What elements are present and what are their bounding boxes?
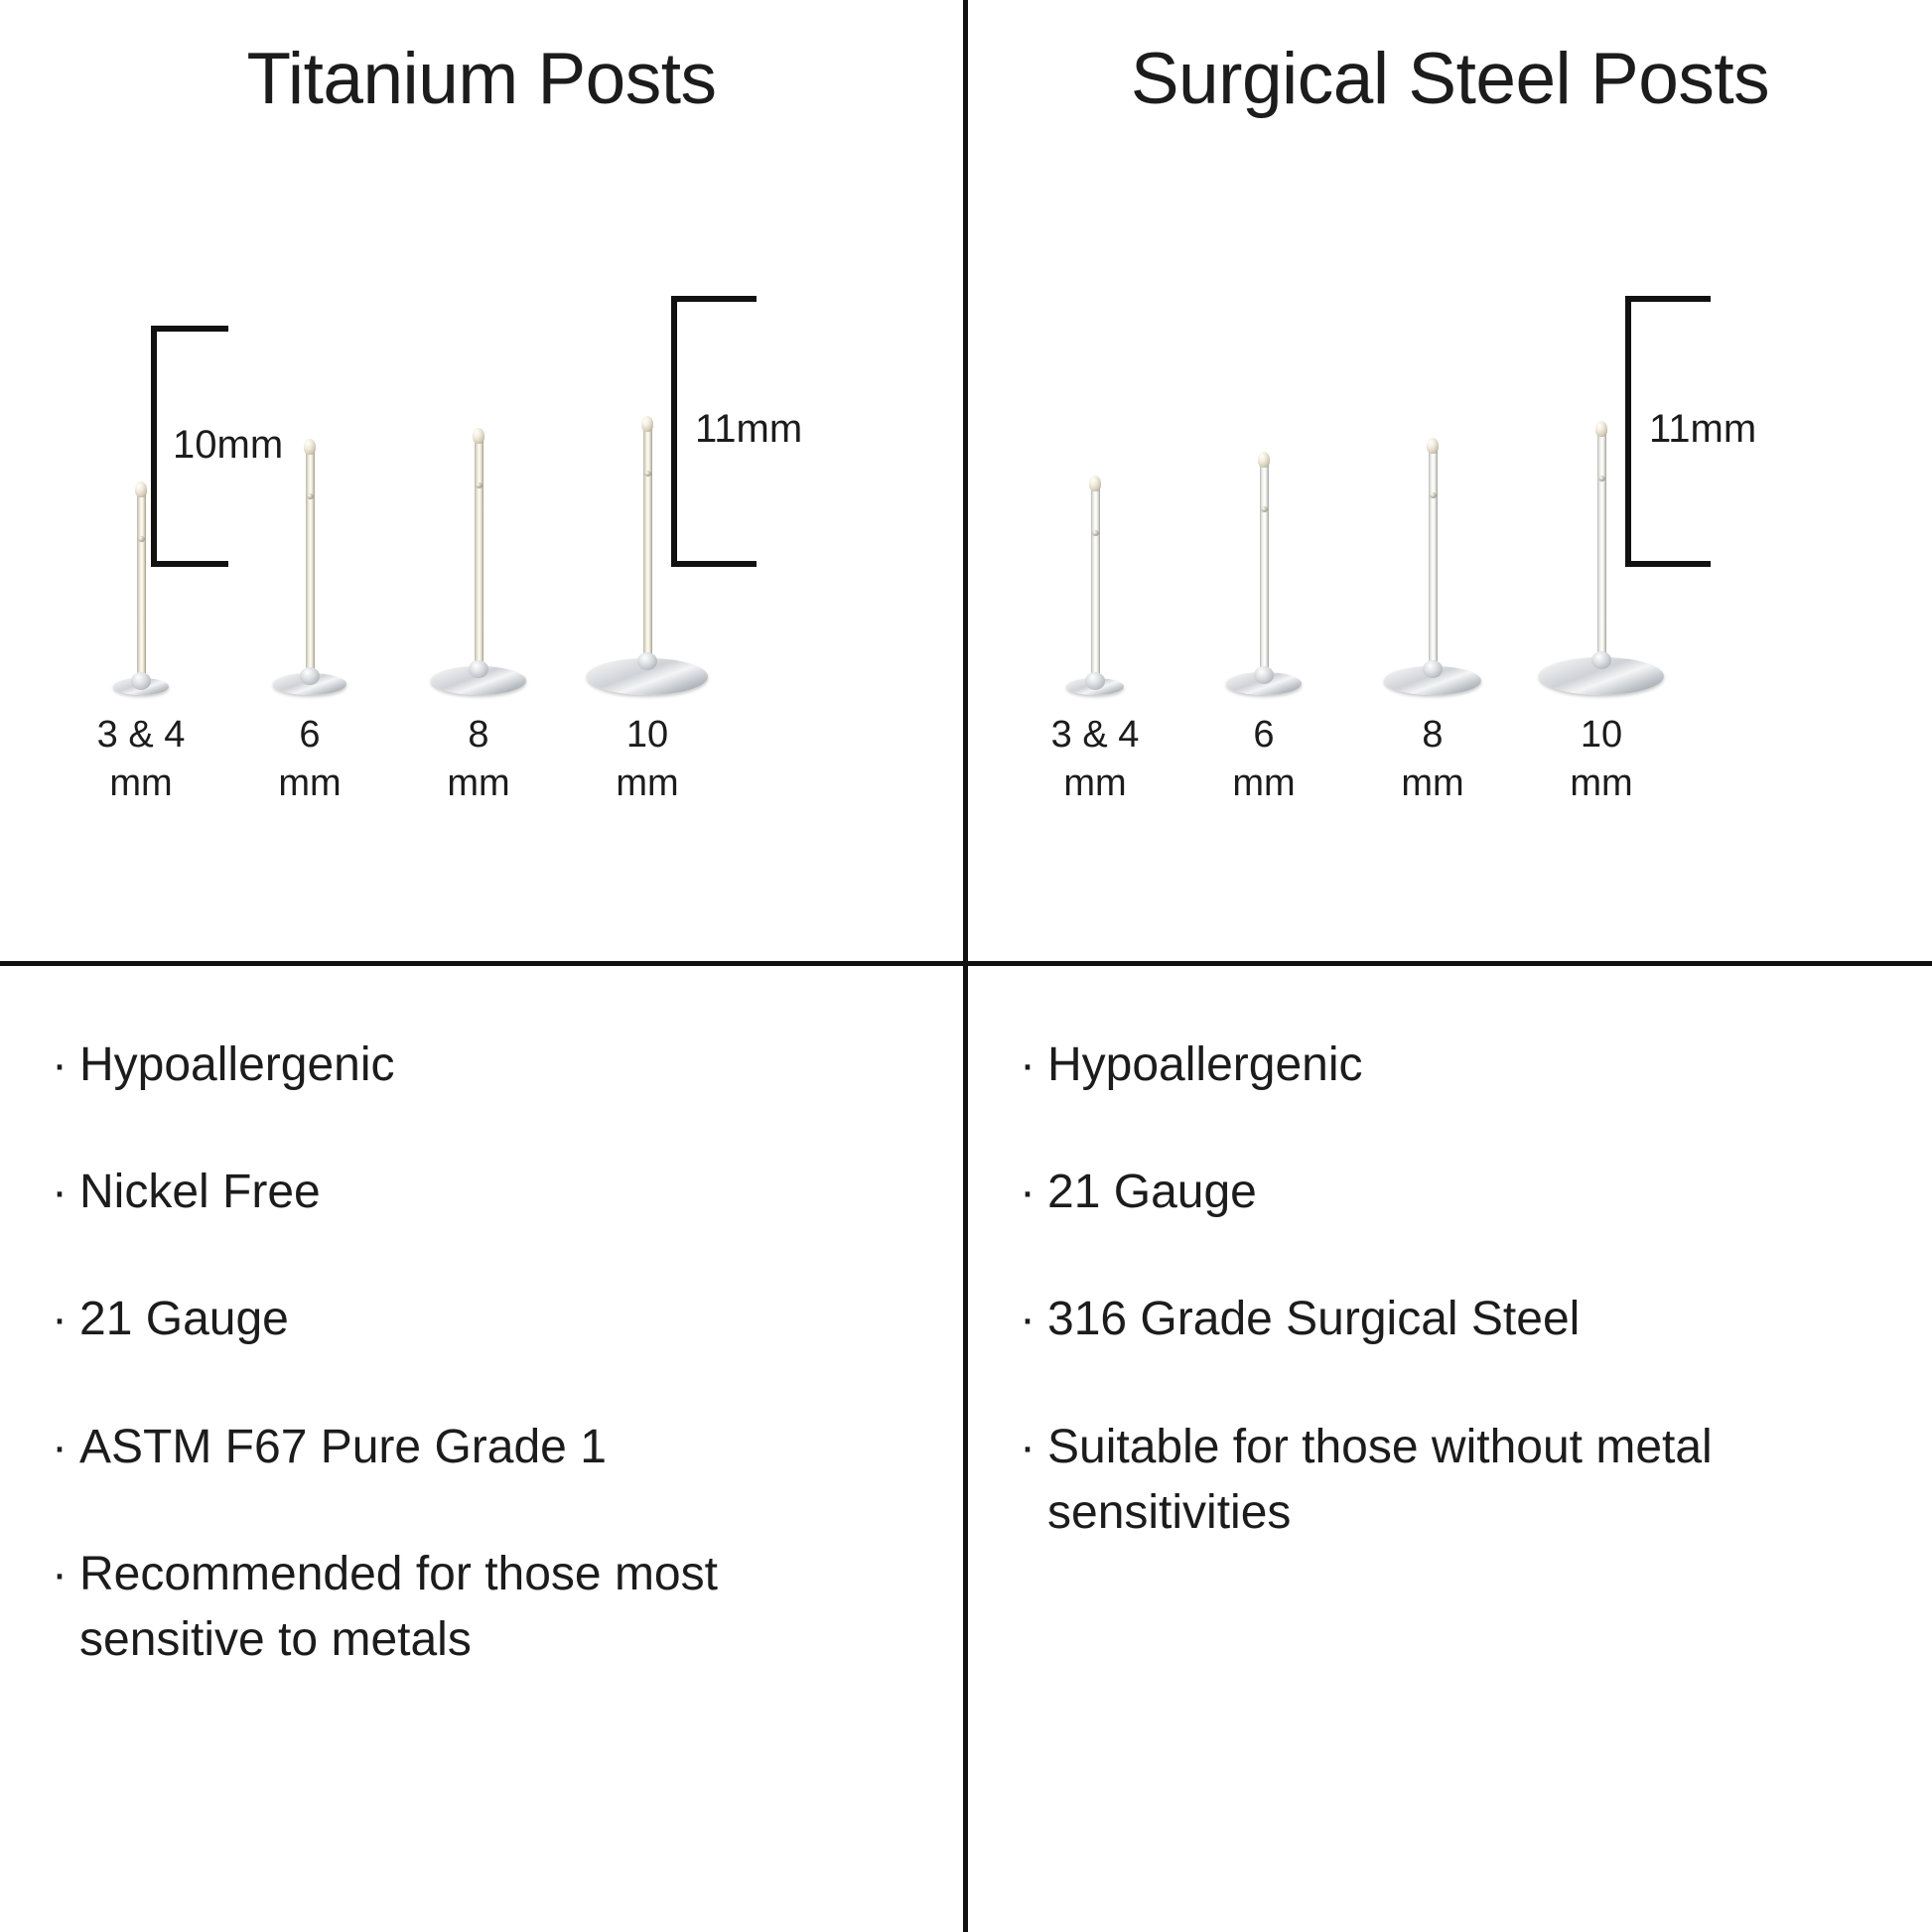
measurement-bracket-10mm: 10mm (151, 326, 260, 567)
size-unit: mm (230, 759, 389, 808)
measurement-label: 11mm (1649, 407, 1756, 452)
list-item-label: Nickel Free (79, 1160, 896, 1225)
comparison-grid: Titanium Posts (0, 0, 1932, 1932)
list-item-label: Suitable for those without metal sensiti… (1047, 1415, 1893, 1546)
size-caption: 3 & 4 mm (62, 711, 220, 807)
list-item: · 21 Gauge (52, 1287, 896, 1352)
size-unit: mm (1522, 759, 1681, 808)
bullet-icon: · (52, 1415, 79, 1480)
size-caption: 10 mm (568, 711, 727, 807)
size-unit: mm (62, 759, 220, 808)
bullet-icon: · (1020, 1033, 1047, 1098)
size-unit: mm (1184, 759, 1343, 808)
list-item-label: 21 Gauge (79, 1287, 896, 1352)
list-item: · 316 Grade Surgical Steel (1020, 1287, 1893, 1352)
feature-list-titanium: · Hypoallergenic · Nickel Free · 21 Gaug… (52, 1033, 896, 1734)
size-unit: mm (1353, 759, 1512, 808)
post-item (399, 278, 558, 695)
bullet-icon: · (52, 1287, 79, 1352)
size-caption: 6 mm (1184, 711, 1343, 807)
post-illustrations-titanium: 10mm 11mm (0, 278, 963, 695)
bullet-icon: · (52, 1542, 79, 1607)
column-title-titanium: Titanium Posts (0, 38, 963, 120)
bullet-icon: · (1020, 1160, 1047, 1225)
size-caption: 3 & 4 mm (1016, 711, 1174, 807)
list-item-label: ASTM F67 Pure Grade 1 (79, 1415, 896, 1480)
size-unit: mm (1016, 759, 1174, 808)
earring-post-icon (431, 439, 526, 695)
earring-post-icon (1384, 449, 1481, 695)
earring-post-icon (1226, 463, 1302, 695)
size-caption: 8 mm (399, 711, 558, 807)
size-value: 10 (568, 711, 727, 759)
column-titanium: Titanium Posts (0, 0, 963, 1932)
list-item: · Nickel Free (52, 1160, 896, 1225)
post-item (1016, 278, 1174, 695)
size-value: 10 (1522, 711, 1681, 759)
list-item-label: 21 Gauge (1047, 1160, 1893, 1225)
list-item: · Hypoallergenic (1020, 1033, 1893, 1098)
measurement-bracket-11mm: 11mm (671, 296, 788, 567)
measurement-bracket-11mm: 11mm (1625, 296, 1742, 567)
measurement-label: 11mm (695, 407, 802, 452)
post-item (1353, 278, 1512, 695)
size-value: 6 (1184, 711, 1343, 759)
post-illustrations-surgical-steel: 11mm (968, 278, 1932, 695)
list-item: · 21 Gauge (1020, 1160, 1893, 1225)
size-caption: 10 mm (1522, 711, 1681, 807)
size-caption: 8 mm (1353, 711, 1512, 807)
list-item: · ASTM F67 Pure Grade 1 (52, 1415, 896, 1480)
bullet-icon: · (1020, 1287, 1047, 1352)
measurement-label: 10mm (173, 423, 283, 468)
bullet-icon: · (52, 1033, 79, 1098)
size-unit: mm (399, 759, 558, 808)
size-value: 8 (399, 711, 558, 759)
earring-post-icon (273, 450, 346, 695)
list-item: · Recommended for those most sensitive t… (52, 1542, 896, 1673)
column-surgical-steel: Surgical Steel Posts (968, 0, 1932, 1932)
list-item-label: Hypoallergenic (1047, 1033, 1893, 1098)
earring-post-icon (1066, 486, 1124, 695)
list-item: · Hypoallergenic (52, 1033, 896, 1098)
size-caption: 6 mm (230, 711, 389, 807)
size-value: 3 & 4 (1016, 711, 1174, 759)
list-item-label: Recommended for those most sensitive to … (79, 1542, 896, 1673)
bullet-icon: · (52, 1160, 79, 1225)
list-item: · Suitable for those without metal sensi… (1020, 1415, 1893, 1546)
list-item-label: Hypoallergenic (79, 1033, 896, 1098)
list-item-label: 316 Grade Surgical Steel (1047, 1287, 1893, 1352)
feature-list-surgical-steel: · Hypoallergenic · 21 Gauge · 316 Grade … (1020, 1033, 1893, 1607)
size-value: 6 (230, 711, 389, 759)
size-value: 8 (1353, 711, 1512, 759)
size-value: 3 & 4 (62, 711, 220, 759)
post-item (1184, 278, 1343, 695)
size-unit: mm (568, 759, 727, 808)
bullet-icon: · (1020, 1415, 1047, 1480)
column-title-surgical-steel: Surgical Steel Posts (968, 38, 1932, 120)
